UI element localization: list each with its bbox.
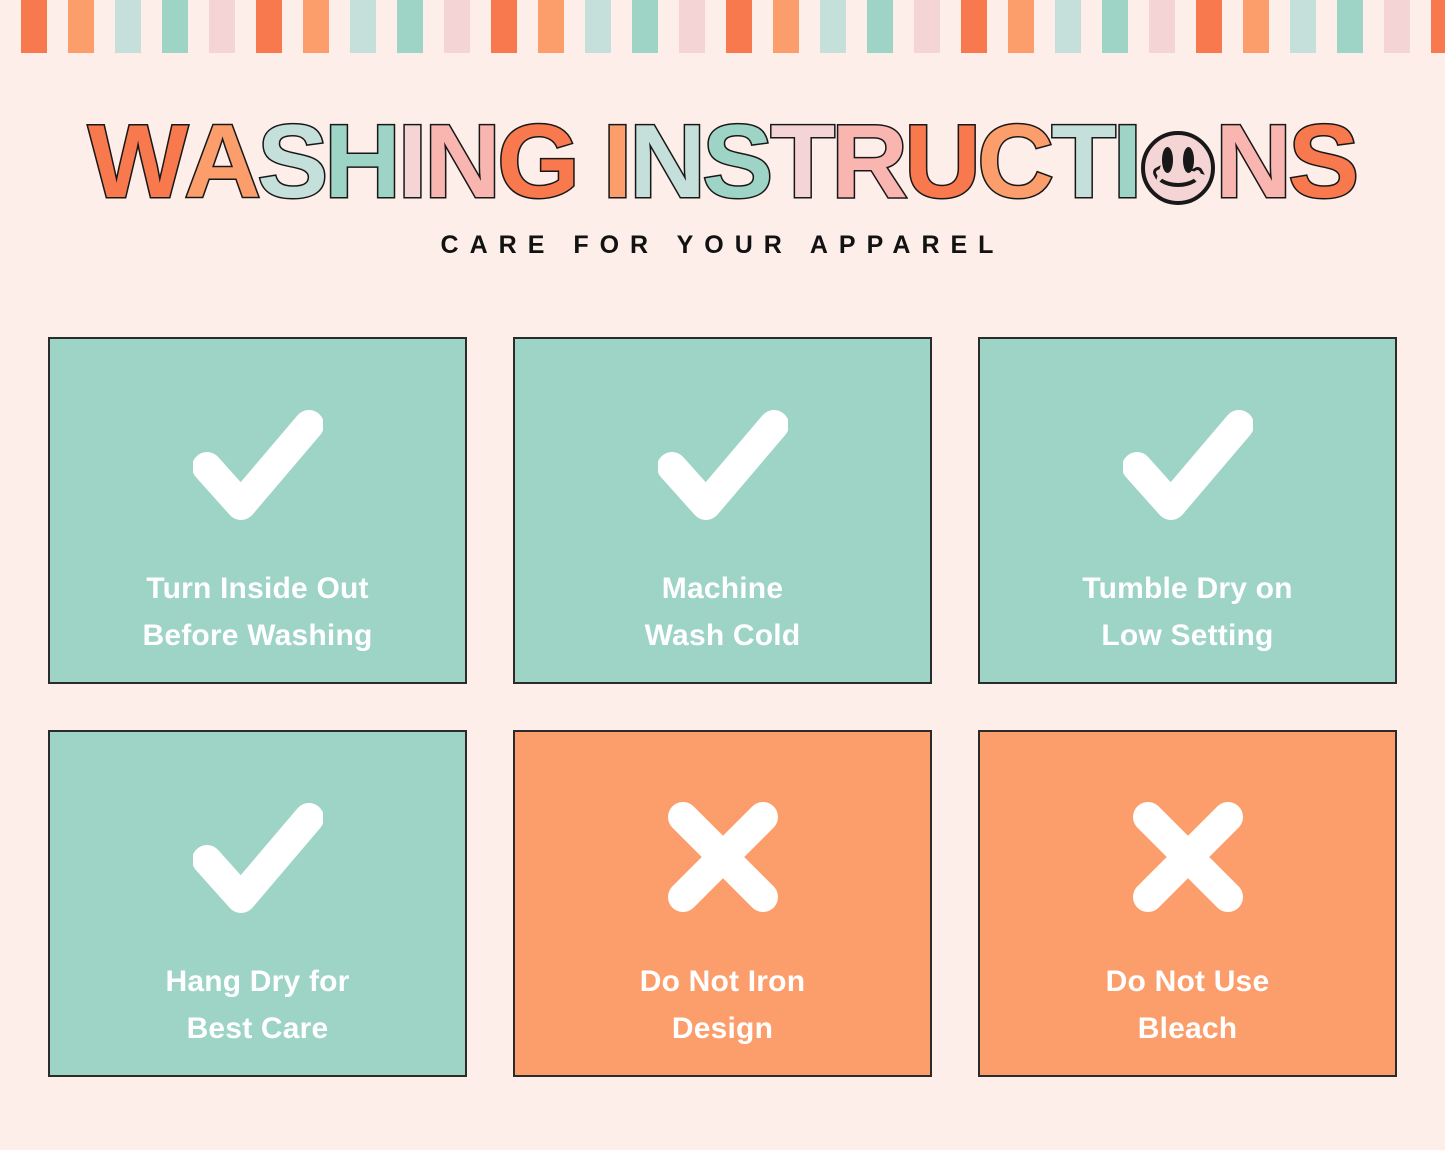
- stripe-segment: [115, 0, 141, 53]
- stripe-gap: [1128, 0, 1149, 53]
- stripe-gap: [0, 0, 21, 53]
- stripe-segment: [867, 0, 893, 53]
- title-letter-u-13: U: [905, 115, 980, 211]
- stripe-gap: [1410, 0, 1431, 53]
- stripe-segment: [820, 0, 846, 53]
- stripe-gap: [470, 0, 491, 53]
- title-letter-c-14: C: [978, 115, 1053, 211]
- check-icon: [193, 798, 323, 916]
- stripe-segment: [1290, 0, 1316, 53]
- stripe-gap: [235, 0, 256, 53]
- stripe-segment: [538, 0, 564, 53]
- care-card-label: Do Not Iron Design: [630, 958, 816, 1053]
- stripe-segment: [209, 0, 235, 53]
- title-letter-s-2: S: [257, 115, 326, 211]
- stripe-gap: [1081, 0, 1102, 53]
- title-letter-w-0: W: [88, 115, 186, 211]
- care-card-label: Tumble Dry on Low Setting: [1072, 565, 1302, 660]
- title-letter-h-3: H: [324, 115, 399, 211]
- stripe-gap: [1316, 0, 1337, 53]
- check-icon: [658, 405, 788, 523]
- care-card-machine-wash-cold: Machine Wash Cold: [513, 337, 932, 684]
- stripe-gap: [517, 0, 538, 53]
- title-letter-s-19: S: [1288, 115, 1357, 211]
- stripe-gap: [987, 0, 1008, 53]
- title-letter-i-16: I: [1113, 115, 1140, 211]
- stripe-gap: [329, 0, 350, 53]
- care-card-label: Machine Wash Cold: [635, 565, 811, 660]
- title-letter-n-9: N: [629, 115, 704, 211]
- stripe-gap: [752, 0, 773, 53]
- care-card-do-not-iron: Do Not Iron Design: [513, 730, 932, 1077]
- title-letter-i-4: I: [398, 115, 425, 211]
- stripe-segment: [1102, 0, 1128, 53]
- stripe-gap: [705, 0, 726, 53]
- cross-icon: [658, 798, 788, 916]
- stripe-segment: [679, 0, 705, 53]
- care-card-do-not-bleach: Do Not Use Bleach: [978, 730, 1397, 1077]
- stripe-segment: [914, 0, 940, 53]
- stripe-segment: [1243, 0, 1269, 53]
- care-card-label: Turn Inside Out Before Washing: [132, 565, 382, 660]
- stripe-segment: [444, 0, 470, 53]
- stripe-segment: [1055, 0, 1081, 53]
- title-letter-n-18: N: [1215, 115, 1290, 211]
- stripe-segment: [1337, 0, 1363, 53]
- title-letter-n-5: N: [425, 115, 500, 211]
- header: WASHINGINSTRUCTINS CARE FOR YOUR APPAREL: [0, 53, 1445, 260]
- stripe-gap: [47, 0, 68, 53]
- stripe-gap: [376, 0, 397, 53]
- care-instruction-grid: Turn Inside Out Before WashingMachine Wa…: [48, 337, 1398, 1077]
- stripe-gap: [846, 0, 867, 53]
- title-letter-t-15: T: [1051, 115, 1114, 211]
- stripe-segment: [961, 0, 987, 53]
- stripe-segment: [21, 0, 47, 53]
- title-letter-a-1: A: [184, 115, 259, 211]
- stripe-segment: [632, 0, 658, 53]
- stripe-gap: [564, 0, 585, 53]
- stripe-gap: [1222, 0, 1243, 53]
- stripe-gap: [799, 0, 820, 53]
- stripe-gap: [658, 0, 679, 53]
- care-card-label: Hang Dry for Best Care: [155, 958, 359, 1053]
- stripe-segment: [256, 0, 282, 53]
- care-card-label: Do Not Use Bleach: [1096, 958, 1280, 1053]
- top-stripe-band: [0, 0, 1445, 53]
- stripe-gap: [611, 0, 632, 53]
- stripe-segment: [303, 0, 329, 53]
- stripe-segment: [1384, 0, 1410, 53]
- stripe-segment: [1149, 0, 1175, 53]
- stripe-segment: [162, 0, 188, 53]
- title-letter-t-11: T: [770, 115, 833, 211]
- stripe-segment: [1431, 0, 1445, 53]
- smiley-face-icon: [1141, 131, 1215, 205]
- title-letter-g-6: G: [498, 115, 578, 211]
- stripe-gap: [282, 0, 303, 53]
- check-icon: [1123, 405, 1253, 523]
- title-letter-i-8: I: [603, 115, 630, 211]
- care-card-hang-dry: Hang Dry for Best Care: [48, 730, 467, 1077]
- stripe-segment: [397, 0, 423, 53]
- cross-icon: [1123, 798, 1253, 916]
- title-letter-r-12: R: [831, 115, 906, 211]
- stripe-segment: [350, 0, 376, 53]
- check-icon: [193, 405, 323, 523]
- care-card-tumble-dry-low: Tumble Dry on Low Setting: [978, 337, 1397, 684]
- stripe-gap: [1363, 0, 1384, 53]
- stripe-segment: [726, 0, 752, 53]
- stripe-segment: [68, 0, 94, 53]
- stripe-gap: [1034, 0, 1055, 53]
- stripe-segment: [1008, 0, 1034, 53]
- stripe-segment: [491, 0, 517, 53]
- stripe-segment: [1196, 0, 1222, 53]
- page-title: WASHINGINSTRUCTINS: [0, 115, 1445, 211]
- stripe-gap: [1269, 0, 1290, 53]
- care-card-turn-inside-out: Turn Inside Out Before Washing: [48, 337, 467, 684]
- stripe-gap: [188, 0, 209, 53]
- stripe-gap: [94, 0, 115, 53]
- stripe-gap: [893, 0, 914, 53]
- page-subtitle: CARE FOR YOUR APPAREL: [0, 231, 1445, 260]
- stripe-segment: [585, 0, 611, 53]
- stripe-gap: [1175, 0, 1196, 53]
- title-letter-s-10: S: [703, 115, 772, 211]
- stripe-gap: [141, 0, 162, 53]
- stripe-gap: [423, 0, 444, 53]
- stripe-segment: [773, 0, 799, 53]
- stripe-gap: [940, 0, 961, 53]
